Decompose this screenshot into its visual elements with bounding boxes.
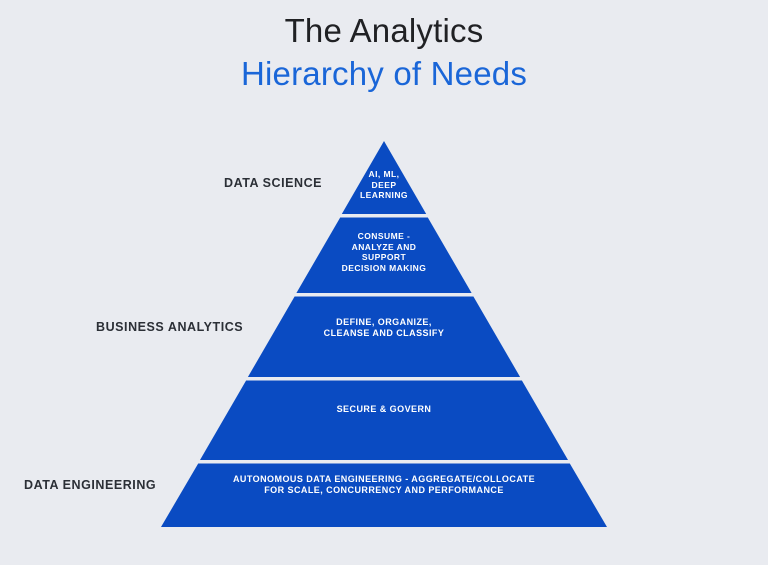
pyramid-tier-5-shape — [161, 464, 607, 528]
pyramid-tier-3-shape — [248, 297, 520, 378]
pyramid-tier-4-shape — [200, 381, 568, 461]
analytics-hierarchy-infographic: The Analytics Hierarchy of Needs AI, ML,… — [0, 0, 768, 565]
pyramid-tier-2-shape — [296, 218, 471, 294]
side-label-data-science: DATA SCIENCE — [224, 176, 322, 190]
side-label-business-analytics: BUSINESS ANALYTICS — [96, 320, 243, 334]
side-label-data-engineering: DATA ENGINEERING — [24, 478, 156, 492]
pyramid-tier-1-shape — [342, 141, 426, 214]
